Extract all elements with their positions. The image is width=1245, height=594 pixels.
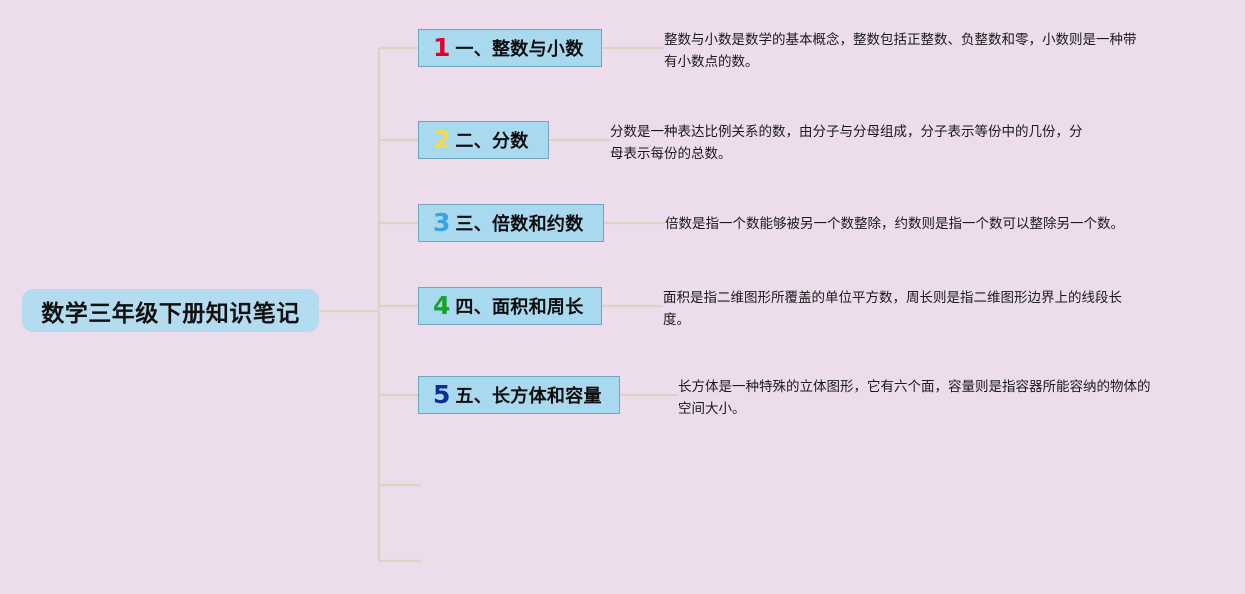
topic-number-5: 5 bbox=[433, 382, 450, 407]
topic-description-1: 整数与小数是数学的基本概念，整数包括正整数、负整数和零，小数则是一种带 有小数点… bbox=[664, 30, 1174, 74]
topic-node-4[interactable]: 4 四、面积和周长 bbox=[418, 287, 602, 325]
topic-title-2: 二、分数 bbox=[455, 127, 528, 153]
topic-node-3[interactable]: 3 三、倍数和约数 bbox=[418, 204, 604, 242]
topic-description-4: 面积是指二维图形所覆盖的单位平方数，周长则是指二维图形边界上的线段长 度。 bbox=[663, 288, 1173, 332]
topic-number-3: 3 bbox=[433, 210, 450, 235]
topic-number-2: 2 bbox=[433, 127, 450, 152]
topic-title-1: 一、整数与小数 bbox=[455, 35, 583, 61]
mindmap-canvas: 数学三年级下册知识笔记 1 一、整数与小数 整数与小数是数学的基本概念，整数包括… bbox=[0, 0, 1245, 594]
topic-description-5: 长方体是一种特殊的立体图形，它有六个面，容量则是指容器所能容纳的物体的 空间大小… bbox=[678, 377, 1188, 421]
topic-node-5[interactable]: 5 五、长方体和容量 bbox=[418, 376, 620, 414]
topic-title-3: 三、倍数和约数 bbox=[455, 210, 583, 236]
topic-number-1: 1 bbox=[433, 35, 450, 60]
topic-title-5: 五、长方体和容量 bbox=[455, 382, 601, 408]
topic-node-2[interactable]: 2 二、分数 bbox=[418, 121, 549, 159]
root-label: 数学三年级下册知识笔记 bbox=[41, 294, 300, 328]
topic-description-2: 分数是一种表达比例关系的数，由分子与分母组成，分子表示等份中的几份，分 母表示每… bbox=[610, 122, 1120, 166]
topic-title-4: 四、面积和周长 bbox=[455, 293, 583, 319]
topic-number-4: 4 bbox=[433, 293, 450, 318]
root-node[interactable]: 数学三年级下册知识笔记 bbox=[22, 289, 319, 332]
topic-description-3: 倍数是指一个数能够被另一个数整除，约数则是指一个数可以整除另一个数。 bbox=[665, 214, 1185, 236]
topic-node-1[interactable]: 1 一、整数与小数 bbox=[418, 29, 602, 67]
